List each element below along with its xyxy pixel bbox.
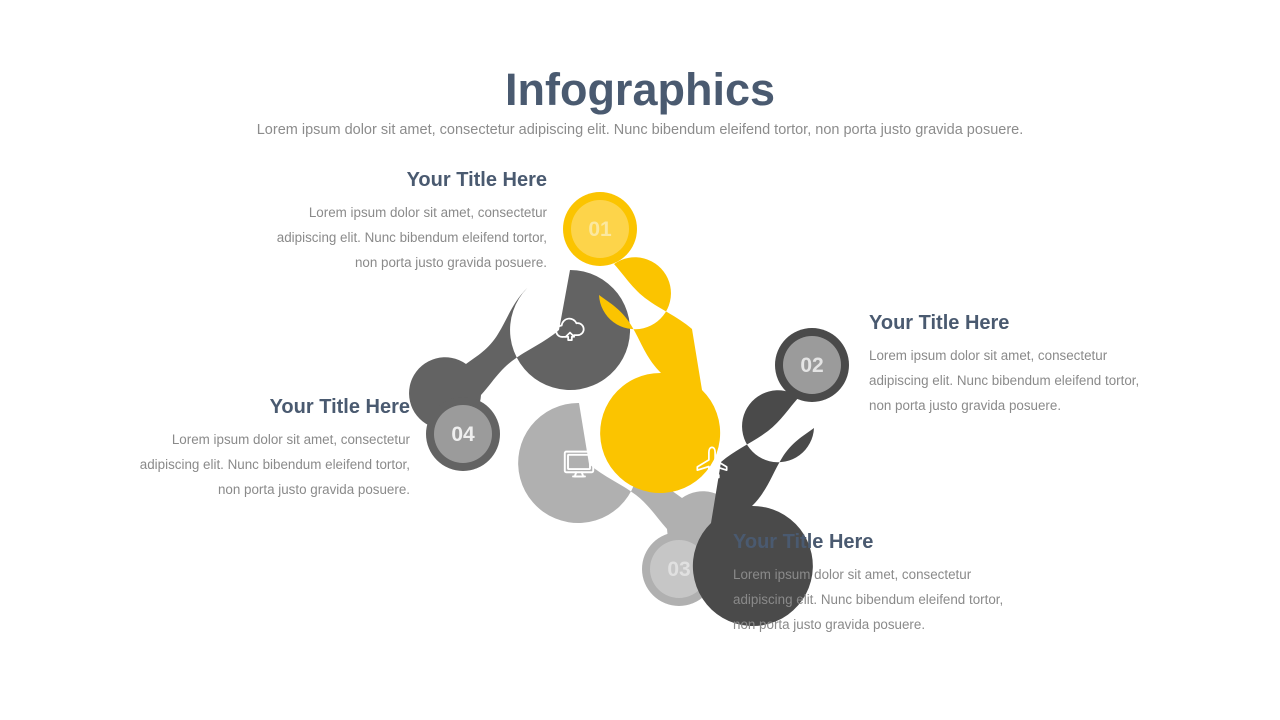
node-04-body-line: Lorem ipsum dolor sit amet, consectetur — [98, 427, 410, 452]
node-02-body-line: Lorem ipsum dolor sit amet, consectetur — [869, 343, 1189, 368]
node-01-body-line: adipiscing elit. Nunc bibendum eleifend … — [237, 225, 547, 250]
infographic-diagram: 01 02 03 04 Your Titl — [0, 0, 1280, 720]
node-03-body-line: Lorem ipsum dolor sit amet, consectetur — [733, 562, 1053, 587]
node-02-title: Your Title Here — [869, 311, 1189, 335]
node-02-body: Lorem ipsum dolor sit amet, consectetur … — [869, 343, 1189, 418]
node-01-blob[interactable] — [599, 257, 720, 493]
node-01-body: Lorem ipsum dolor sit amet, consectetur … — [237, 200, 547, 275]
node-01-text-block: Your Title Here Lorem ipsum dolor sit am… — [237, 168, 547, 275]
node-04-title: Your Title Here — [98, 395, 410, 419]
node-01-body-line: Lorem ipsum dolor sit amet, consectetur — [237, 200, 547, 225]
node-04-body-line: non porta justo gravida posuere. — [98, 477, 410, 502]
node-04-badge-inner[interactable] — [434, 405, 492, 463]
node-01-title: Your Title Here — [237, 168, 547, 192]
node-01-body-line: non porta justo gravida posuere. — [237, 250, 547, 275]
node-03-body-line: adipiscing elit. Nunc bibendum eleifend … — [733, 587, 1053, 612]
node-02-badge-inner[interactable] — [783, 336, 841, 394]
node-03-body: Lorem ipsum dolor sit amet, consectetur … — [733, 562, 1053, 637]
node-04-shape[interactable] — [409, 270, 630, 471]
node-03-body-line: non porta justo gravida posuere. — [733, 612, 1053, 637]
node-01-badge-inner[interactable] — [571, 200, 629, 258]
node-03-title: Your Title Here — [733, 530, 1053, 554]
node-02-body-line: non porta justo gravida posuere. — [869, 393, 1189, 418]
node-04-text-block: Your Title Here Lorem ipsum dolor sit am… — [98, 395, 410, 502]
node-02-body-line: adipiscing elit. Nunc bibendum eleifend … — [869, 368, 1189, 393]
node-04-body: Lorem ipsum dolor sit amet, consectetur … — [98, 427, 410, 502]
node-03-text-block: Your Title Here Lorem ipsum dolor sit am… — [733, 530, 1053, 637]
node-04-body-line: adipiscing elit. Nunc bibendum eleifend … — [98, 452, 410, 477]
node-02-text-block: Your Title Here Lorem ipsum dolor sit am… — [869, 311, 1189, 418]
